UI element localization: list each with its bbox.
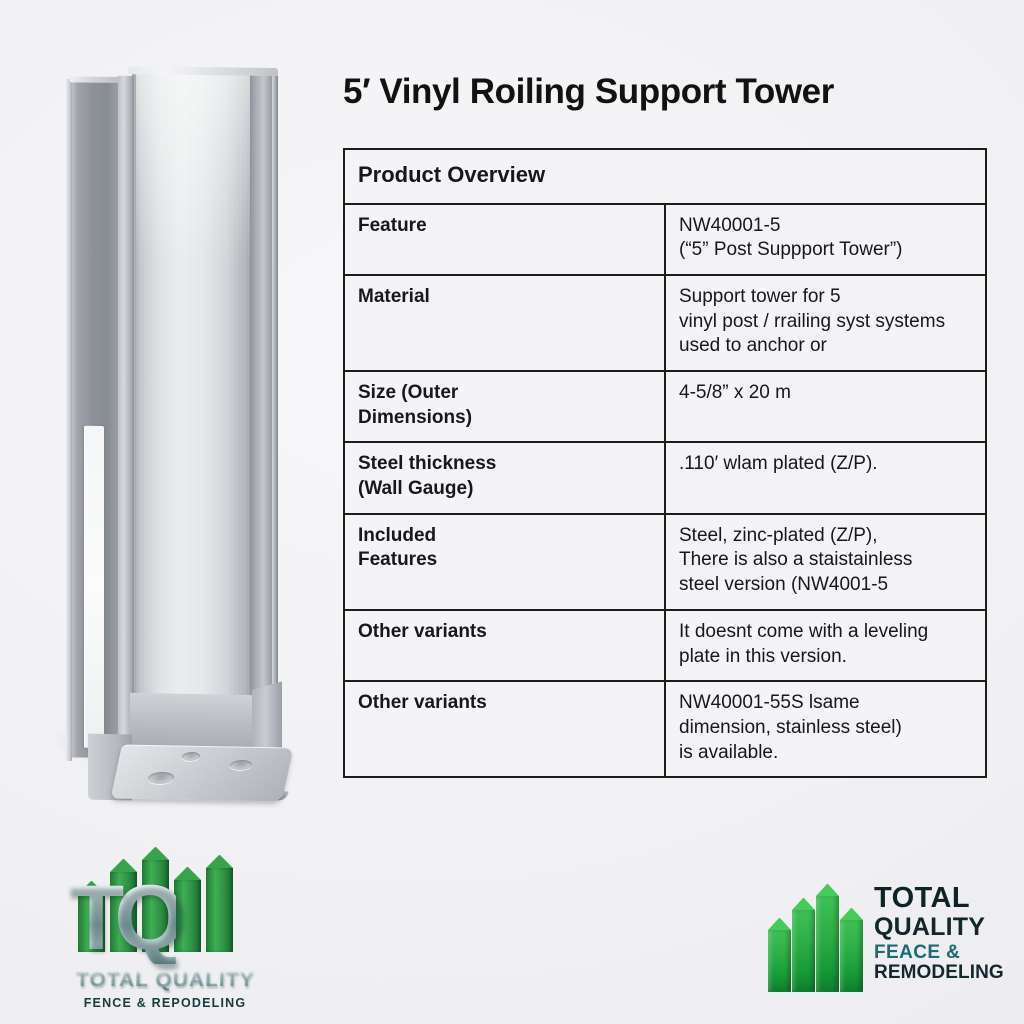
logo-total-quality-flat: TOTAL QUALITY FEACE & REMODELING [766,884,1016,1002]
row-key: Other variants [344,610,665,681]
row-value-line: dimension, stainless steel) [679,716,972,741]
fence-pickets-icon [766,888,866,992]
row-value-line: (“5” Post Suppport Tower”) [679,238,972,263]
picket-icon [174,880,201,952]
row-key-line: Steel thickness [358,452,651,477]
logo-tagline: FENCE & REPODELING [58,996,272,1010]
row-key: Other variants [344,681,665,777]
row-key: Size (Outer Dimensions) [344,371,665,442]
row-value-line: It doesnt come with a leveling [679,620,972,645]
row-value-line: Support tower for 5 [679,285,972,310]
row-value-line: is available. [679,741,972,766]
logo-monogram: TQ [68,872,176,964]
row-key-line: Other variants [358,691,651,716]
row-value: It doesnt come with a leveling plate in … [665,610,986,681]
row-key-line: (Wall Gauge) [358,477,651,502]
left-flange-top-lip [70,76,122,83]
logo-name: TOTAL QUALITY [58,968,272,992]
table-row: Size (Outer Dimensions) 4-5/8” x 20 m [344,371,986,442]
row-value-line: NW40001-5 [679,214,972,239]
table-row: Other variants It doesnt come with a lev… [344,610,986,681]
support-tower-graphic [62,58,267,818]
corner-fold [118,76,134,766]
logo-wordmark: TOTAL QUALITY FEACE & REMODELING [874,884,1020,984]
row-key-line: Other variants [358,620,651,645]
row-value-line: Steel, zinc-plated (Z/P), [679,524,972,549]
table-row: Feature NW40001-5 (“5” Post Suppport Tow… [344,204,986,275]
row-key: Steel thickness (Wall Gauge) [344,442,665,513]
row-value-line: steel version (NW4001-5 [679,573,972,598]
logo-line-remodeling: REMODELING [874,963,1020,984]
row-value-line: plate in this version. [679,645,972,670]
page-title: 5′ Vinyl Roiling Support Tower [343,72,1003,112]
picket-icon [840,920,863,992]
logo-line-total: TOTAL [874,884,1020,914]
row-key-line: Dimensions) [358,406,651,431]
row-value-line: There is also a staistainless [679,548,972,573]
picket-icon [206,868,233,952]
row-value-line: vinyl post / rrailing syst systems [679,310,972,335]
row-value-line: used to anchor or [679,334,972,359]
picket-icon [816,896,839,992]
row-key-line: Included [358,524,651,549]
table-header-cell: Product Overview [344,149,986,204]
main-face [132,72,254,771]
table-row: Material Support tower for 5 vinyl post … [344,275,986,371]
row-key-line: Size (Outer [358,381,651,406]
row-value: 4-5/8” x 20 m [665,371,986,442]
table-row: Steel thickness (Wall Gauge) .110′ wlam … [344,442,986,513]
right-flange-edge [272,72,278,772]
row-value-line: 4-5/8” x 20 m [679,381,972,406]
row-key: Included Features [344,514,665,610]
table-row: Included Features Steel, zinc-plated (Z/… [344,514,986,610]
row-value: .110′ wlam plated (Z/P). [665,442,986,513]
picket-icon [792,910,815,992]
table-header-row: Product Overview [344,149,986,204]
row-value: NW40001-55S lsame dimension, stainless s… [665,681,986,777]
base-plate-assembly [64,694,294,814]
row-key: Feature [344,204,665,275]
table-row: Other variants NW40001-55S lsame dimensi… [344,681,986,777]
logo-line-feace: FEACE & [874,942,1020,963]
product-image [0,20,330,850]
left-flange-edge [66,79,72,761]
row-value-line: .110′ wlam plated (Z/P). [679,452,972,477]
row-key-line: Features [358,548,651,573]
logo-total-quality-3d: TQ TOTAL QUALITY FENCE & REPODELING [40,858,290,1008]
picket-icon [768,930,791,992]
row-value-line: NW40001-55S lsame [679,691,972,716]
product-overview-table: Product Overview Feature NW40001-5 (“5” … [343,148,987,778]
base-plate [111,744,294,801]
row-key: Material [344,275,665,371]
row-value: NW40001-5 (“5” Post Suppport Tower”) [665,204,986,275]
logo-line-quality: QUALITY [874,914,1020,941]
row-value: Support tower for 5 vinyl post / rrailin… [665,275,986,371]
row-value: Steel, zinc-plated (Z/P), There is also … [665,514,986,610]
